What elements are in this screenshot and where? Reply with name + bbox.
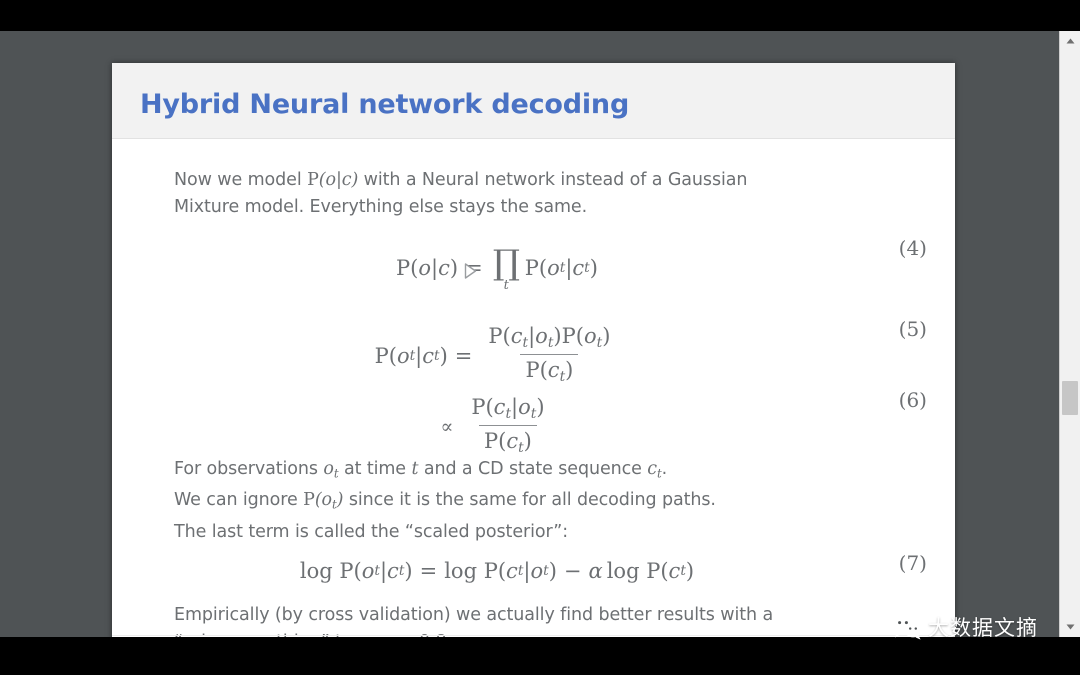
equation-6-body: ∝ P(ct|ot) P(ct) — [440, 396, 553, 458]
inline-math-c-t: ct — [647, 459, 661, 479]
inline-math-o-t: ot — [323, 459, 338, 479]
mid-text-post: . — [662, 459, 667, 479]
scrollbar-thumb[interactable] — [1062, 381, 1078, 415]
equation-number-6: (6) — [899, 388, 927, 412]
equation-4-body: P(o|c) = ∏ t P(ot|ct) — [396, 247, 598, 290]
mid-text-mid: at time — [339, 459, 412, 479]
paragraph-observations: For observations ot at time t and a CD s… — [174, 456, 914, 546]
pdf-page-area: Hybrid Neural network decoding Now we mo… — [0, 31, 1059, 637]
equation-5-body: P(ot|ct) = P(ct|ot)P(ot) P(ct) — [375, 325, 620, 387]
mid-line2-post: since it is the same for all decoding pa… — [343, 490, 715, 510]
intro-text-line2: Mixture model. Everything else stays the… — [174, 197, 587, 217]
mid-line2-pre: We can ignore — [174, 490, 303, 510]
product-limit: t — [504, 279, 509, 292]
vertical-scrollbar[interactable] — [1059, 31, 1080, 637]
inline-math-p-o-given-c: P(o|c) — [307, 170, 358, 190]
intro-text-pre: Now we model — [174, 170, 307, 190]
product-operator-icon: ∏ t — [493, 249, 520, 292]
equation-number-4: (4) — [899, 236, 927, 260]
proportional-to-symbol: ∝ — [440, 416, 453, 438]
intro-text-post: with a Neural network instead of a Gauss… — [358, 170, 747, 190]
equation-number-7: (7) — [899, 551, 927, 575]
letterbox-bottom-bar — [0, 637, 1080, 675]
slide-page: Hybrid Neural network decoding Now we mo… — [112, 63, 955, 664]
slide-body: Now we model P(o|c) with a Neural networ… — [112, 139, 955, 639]
fraction-eq6: P(ct|ot) P(ct) — [466, 395, 549, 457]
equation-7-body: log P(ot|ct) = log P(ct|ot) − αlog P(ct) — [300, 559, 694, 583]
triangle-down-icon[interactable] — [1060, 618, 1080, 636]
mid-line3: The last term is called the “scaled post… — [174, 522, 568, 542]
paragraph-intro: Now we model P(o|c) with a Neural networ… — [174, 167, 914, 221]
mid-text-mid2: and a CD state sequence — [418, 459, 647, 479]
video-player-viewport: Hybrid Neural network decoding Now we mo… — [0, 0, 1080, 675]
slide-title: Hybrid Neural network decoding — [140, 89, 629, 120]
letterbox-top-bar — [0, 0, 1080, 31]
inline-math-p-o-t: P(ot) — [303, 490, 343, 510]
fraction-eq5: P(ct|ot)P(ot) P(ct) — [483, 324, 615, 386]
triangle-up-icon[interactable] — [1060, 32, 1080, 50]
mid-text-pre: For observations — [174, 459, 323, 479]
equation-number-5: (5) — [899, 317, 927, 341]
end-line1: Empirically (by cross validation) we act… — [174, 605, 773, 625]
